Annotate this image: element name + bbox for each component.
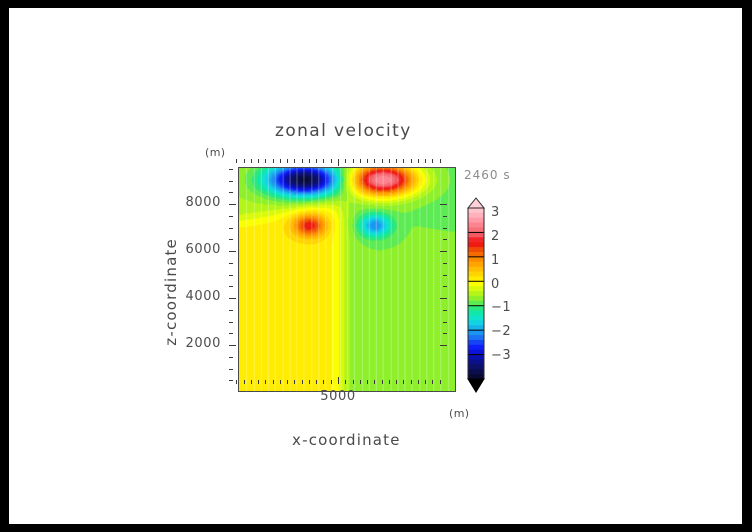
x-axis-minor-tick-top xyxy=(353,159,354,163)
y-axis-major-tick xyxy=(229,204,236,205)
colorbar-band xyxy=(468,345,484,350)
contour-field xyxy=(239,168,455,391)
x-axis-minor-tick-top xyxy=(403,159,404,163)
y-axis-minor-tick xyxy=(229,228,233,229)
colorbar-under-arrow xyxy=(468,379,484,392)
y-axis-minor-tick-right xyxy=(443,322,447,323)
y-axis-major-tick-right xyxy=(440,345,447,346)
colorbar-tick-label: −2 xyxy=(491,324,511,339)
colorbar-band xyxy=(468,330,484,335)
colorbar-band xyxy=(468,291,484,296)
colorbar-band xyxy=(468,364,484,369)
y-axis-minor-tick-right xyxy=(443,275,447,276)
x-axis-minor-tick-top xyxy=(418,159,419,163)
y-axis-minor-tick-right xyxy=(443,286,447,287)
colorbar-band xyxy=(468,257,484,262)
colorbar xyxy=(466,197,486,393)
x-axis-minor-tick xyxy=(251,380,252,384)
y-axis-minor-tick-right xyxy=(443,239,447,240)
colorbar-band xyxy=(468,335,484,340)
x-axis-major-tick xyxy=(338,377,339,384)
x-axis-minor-tick xyxy=(273,380,274,384)
colorbar-band xyxy=(468,355,484,360)
x-axis-minor-tick xyxy=(265,380,266,384)
x-axis-minor-tick-top xyxy=(258,159,259,163)
x-axis-minor-tick xyxy=(425,380,426,384)
colorbar-band xyxy=(468,242,484,247)
colorbar-band xyxy=(468,340,484,345)
x-axis-minor-tick-top xyxy=(323,159,324,163)
colorbar-tick-label: 0 xyxy=(491,277,500,292)
x-axis-minor-tick-top xyxy=(396,159,397,163)
x-axis-minor-tick-top xyxy=(360,159,361,163)
colorbar-band xyxy=(468,223,484,228)
x-axis-minor-tick xyxy=(403,380,404,384)
x-axis-minor-tick xyxy=(418,380,419,384)
x-axis-minor-tick xyxy=(258,380,259,384)
x-axis-minor-tick-top xyxy=(265,159,266,163)
y-axis-tick-label: 4000 xyxy=(161,289,221,304)
y-axis-major-tick xyxy=(229,298,236,299)
x-axis-minor-tick-top xyxy=(367,159,368,163)
x-axis-minor-tick-top xyxy=(287,159,288,163)
x-axis-minor-tick xyxy=(244,380,245,384)
y-axis-minor-tick xyxy=(229,239,233,240)
colorbar-tick-label: 3 xyxy=(491,205,500,220)
y-axis-minor-tick xyxy=(229,263,233,264)
x-axis-minor-tick-top xyxy=(440,159,441,163)
x-axis-minor-tick xyxy=(396,380,397,384)
colorbar-tick-label: −3 xyxy=(491,348,511,363)
x-axis-minor-tick-top xyxy=(244,159,245,163)
x-axis-minor-tick-top xyxy=(280,159,281,163)
colorbar-band xyxy=(468,262,484,267)
x-axis-minor-tick xyxy=(302,380,303,384)
x-axis-minor-tick xyxy=(367,380,368,384)
colorbar-gradient xyxy=(466,197,486,393)
x-axis-minor-tick-top xyxy=(374,159,375,163)
x-axis-unit-label: (m) xyxy=(449,407,470,420)
y-axis-minor-tick xyxy=(229,369,233,370)
y-axis-major-tick-right xyxy=(440,251,447,252)
y-axis-minor-tick xyxy=(229,310,233,311)
colorbar-band xyxy=(468,232,484,237)
y-axis-tick-label: 6000 xyxy=(161,242,221,257)
x-axis-minor-tick xyxy=(345,380,346,384)
y-axis-tick-label: 2000 xyxy=(161,336,221,351)
x-axis-tick-label: 5000 xyxy=(308,389,368,404)
colorbar-tick-label: 1 xyxy=(491,253,500,268)
colorbar-band xyxy=(468,315,484,320)
x-axis-minor-tick xyxy=(331,380,332,384)
y-axis-minor-tick xyxy=(229,181,233,182)
y-axis-minor-tick-right xyxy=(443,310,447,311)
x-axis-minor-tick xyxy=(294,380,295,384)
x-axis-minor-tick-top xyxy=(389,159,390,163)
colorbar-band xyxy=(468,286,484,291)
y-axis-unit-label: (m) xyxy=(205,146,226,159)
time-annotation: 2460 s xyxy=(464,168,511,182)
x-axis-minor-tick xyxy=(411,380,412,384)
page-title: zonal velocity xyxy=(275,121,412,141)
colorbar-band xyxy=(468,267,484,272)
colorbar-band xyxy=(468,237,484,242)
y-axis-minor-tick-right xyxy=(443,333,447,334)
x-axis-minor-tick-top xyxy=(273,159,274,163)
y-axis-minor-tick xyxy=(229,216,233,217)
colorbar-tick-label: −1 xyxy=(491,300,511,315)
colorbar-band xyxy=(468,208,484,213)
colorbar-band xyxy=(468,320,484,325)
x-axis-minor-tick xyxy=(280,380,281,384)
y-axis-minor-tick xyxy=(229,169,233,170)
y-axis-minor-tick-right xyxy=(443,216,447,217)
y-axis-major-tick xyxy=(229,345,236,346)
x-axis-minor-tick-top xyxy=(294,159,295,163)
x-axis-minor-tick xyxy=(432,380,433,384)
x-axis-minor-tick xyxy=(316,380,317,384)
y-axis-minor-tick xyxy=(229,286,233,287)
colorbar-band xyxy=(468,247,484,252)
y-axis-minor-tick xyxy=(229,380,233,381)
y-axis-minor-tick xyxy=(229,322,233,323)
contour-plot-area xyxy=(238,167,456,392)
colorbar-band xyxy=(468,213,484,218)
x-axis-minor-tick-top xyxy=(345,159,346,163)
x-axis-minor-tick xyxy=(389,380,390,384)
y-axis-minor-tick xyxy=(229,192,233,193)
y-axis-minor-tick xyxy=(229,275,233,276)
x-axis-minor-tick-top xyxy=(382,159,383,163)
colorbar-band xyxy=(468,306,484,311)
x-axis-minor-tick xyxy=(323,380,324,384)
x-axis-minor-tick-top xyxy=(331,159,332,163)
colorbar-band xyxy=(468,296,484,301)
colorbar-band xyxy=(468,359,484,364)
x-axis-minor-tick xyxy=(374,380,375,384)
colorbar-band xyxy=(468,218,484,223)
colorbar-band xyxy=(468,272,484,277)
x-axis-title: x-coordinate xyxy=(292,431,401,449)
x-axis-minor-tick-top xyxy=(251,159,252,163)
x-axis-minor-tick xyxy=(440,380,441,384)
y-axis-minor-tick-right xyxy=(443,228,447,229)
x-axis-minor-tick-top xyxy=(316,159,317,163)
y-axis-minor-tick xyxy=(229,357,233,358)
x-axis-minor-tick-top xyxy=(432,159,433,163)
colorbar-over-arrow xyxy=(468,198,484,208)
y-axis-minor-tick-right xyxy=(443,263,447,264)
x-axis-minor-tick xyxy=(236,380,237,384)
colorbar-band xyxy=(468,369,484,374)
x-axis-minor-tick xyxy=(353,380,354,384)
y-axis-major-tick-right xyxy=(440,204,447,205)
y-axis-tick-label: 8000 xyxy=(161,195,221,210)
x-axis-minor-tick-top xyxy=(411,159,412,163)
y-axis-major-tick-right xyxy=(440,298,447,299)
colorbar-tick-label: 2 xyxy=(491,229,500,244)
x-axis-minor-tick-top xyxy=(302,159,303,163)
x-axis-minor-tick xyxy=(360,380,361,384)
x-axis-minor-tick xyxy=(309,380,310,384)
colorbar-band xyxy=(468,311,484,316)
x-axis-minor-tick-top xyxy=(425,159,426,163)
y-axis-minor-tick xyxy=(229,333,233,334)
figure-canvas: zonal velocity (m) (m) 2460 s x-coordina… xyxy=(9,8,742,524)
colorbar-band xyxy=(468,281,484,286)
x-axis-minor-tick xyxy=(382,380,383,384)
x-axis-minor-tick-top xyxy=(236,159,237,163)
y-axis-major-tick xyxy=(229,251,236,252)
x-axis-major-tick-top xyxy=(338,159,339,166)
x-axis-minor-tick xyxy=(287,380,288,384)
x-axis-minor-tick-top xyxy=(309,159,310,163)
